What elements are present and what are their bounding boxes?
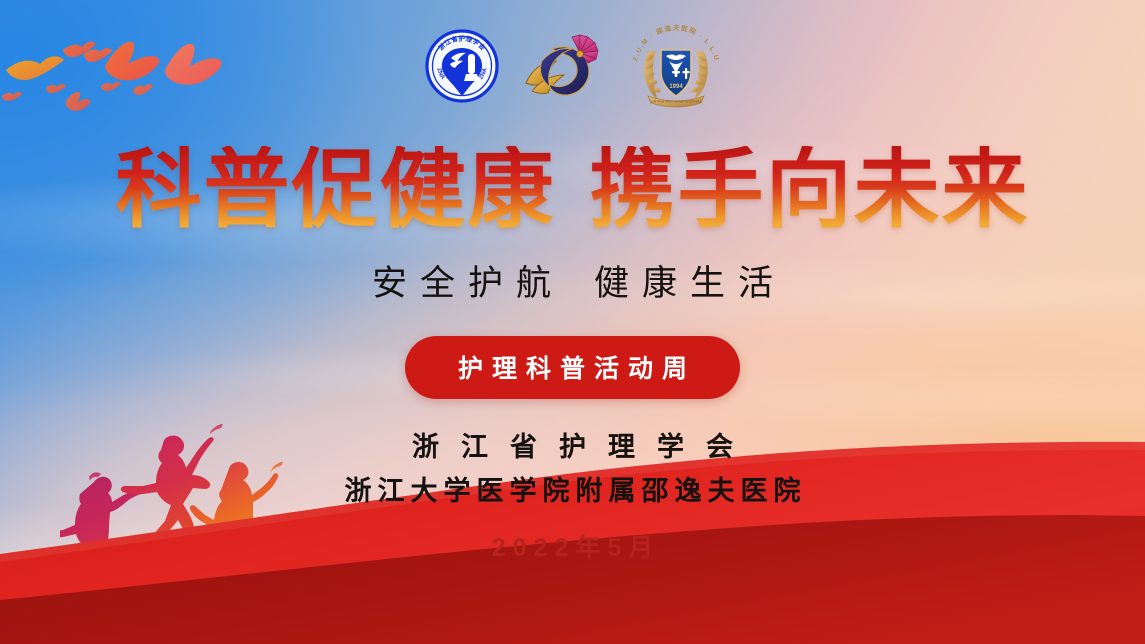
organizer-primary: 浙江省护理学会 <box>339 425 807 464</box>
subtitle: 安全护航健康生活 <box>359 255 786 306</box>
poster-content: 科普促健康携手向未来 安全护航健康生活 护理科普活动周 浙江省护理学会 浙江大学… <box>0 0 1145 644</box>
event-date: 2022年5月 <box>485 528 661 564</box>
poster-canvas: 浙江省护理学会 ZNA ZNA <box>0 0 1145 644</box>
main-title-part1: 科普促健康 <box>116 142 556 238</box>
subtitle-part1: 安全护航 <box>372 264 564 303</box>
organizers: 浙江省护理学会 浙江大学医学院附属邵逸夫医院 <box>339 425 807 508</box>
organizer-secondary: 浙江大学医学院附属邵逸夫医院 <box>339 469 807 508</box>
main-title-part2: 携手向未来 <box>590 142 1030 238</box>
main-title: 科普促健康携手向未来 <box>116 146 1030 235</box>
activity-week-badge[interactable]: 护理科普活动周 <box>405 336 740 399</box>
subtitle-part2: 健康生活 <box>594 264 786 303</box>
